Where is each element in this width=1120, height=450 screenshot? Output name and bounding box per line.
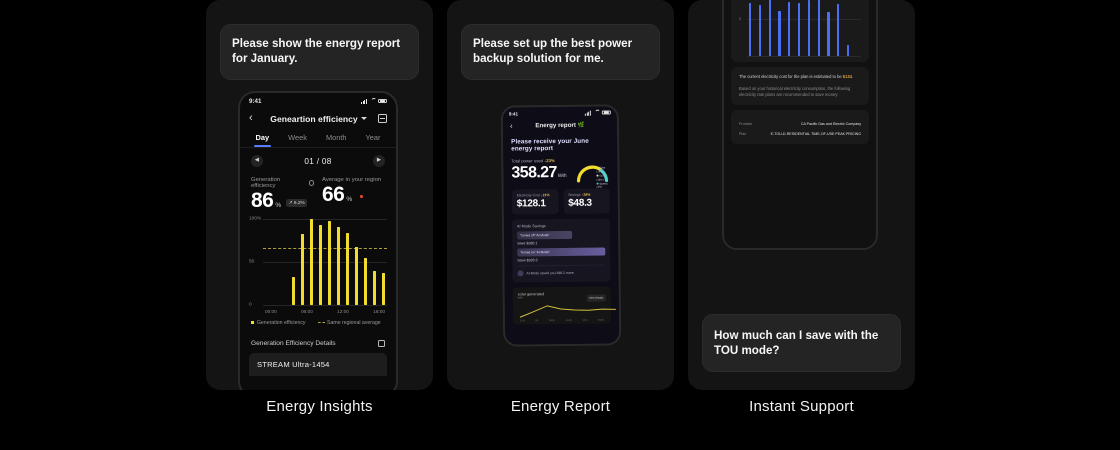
total-power-row: 358.27kWh Solar (78%) Grid (18%) Battery… — [511, 163, 609, 183]
rate-plan-card: Rate plans are recommended based on your… — [731, 0, 869, 62]
robot-icon — [517, 270, 523, 276]
chart-bar — [355, 247, 358, 305]
metric-label: Generation efficiency — [251, 177, 314, 189]
ai-note: AI Mode saved you $48.2 more. — [517, 265, 605, 277]
info-icon[interactable] — [309, 180, 314, 186]
chart-bar — [769, 0, 771, 56]
tab-week[interactable]: Week — [286, 129, 309, 147]
calendar-icon[interactable] — [378, 114, 387, 123]
wifi-icon — [593, 110, 599, 115]
chart-bar — [847, 45, 849, 56]
chart-bars — [749, 0, 859, 56]
metric-value: 66 — [322, 184, 344, 205]
total-power-value-wrap: 358.27kWh — [511, 164, 566, 182]
status-bar: 9:41 — [240, 93, 396, 109]
card-savings: Savings ↑28% $48.3 — [563, 188, 610, 213]
y-tick-0: 0 — [249, 302, 252, 307]
chat-bubble-january: Please show the energy report for Januar… — [220, 24, 419, 80]
x-axis-ticks: 00:00 06:00 12:00 18:00 — [265, 309, 385, 314]
ai-save-on: Save $328.3 — [517, 258, 605, 263]
solar-line-chart — [518, 300, 618, 319]
chart-bar — [749, 3, 751, 56]
chevron-left-icon[interactable]: ‹ — [510, 121, 518, 130]
generation-efficiency-chart: 100% 50 0 00:00 06:00 12:00 18:00 — [249, 219, 387, 305]
panel-energy-report: Please set up the best power backup solu… — [447, 0, 674, 390]
device-card[interactable]: STREAM Ultra-1454 — [249, 353, 387, 376]
card-value: $128.1 — [517, 198, 554, 209]
chevron-down-icon[interactable] — [361, 117, 367, 120]
ai-save-off: Save $280.1 — [517, 241, 605, 246]
screenshot-stage: Please show the energy report for Januar… — [0, 0, 1120, 450]
leaf-icon: 🌿 — [578, 123, 585, 129]
page-title: Energy report 🌿 — [518, 122, 602, 130]
nav-bar: ‹ Energy report 🌿 — [503, 118, 617, 133]
metric-unit: % — [275, 202, 281, 211]
chart-bar — [818, 0, 820, 56]
panel-energy-insights: Please show the energy report for Januar… — [206, 0, 433, 390]
card-delta: ↑28% — [582, 193, 591, 197]
red-dot-icon — [360, 195, 363, 198]
panel-instant-support: Rate plans are recommended based on your… — [688, 0, 915, 390]
view-details-button[interactable]: View Details — [586, 295, 605, 302]
caption-energy-insights: Energy Insights — [206, 398, 433, 415]
selected-date: 01 / 08 — [304, 157, 331, 166]
chart-bar — [759, 5, 761, 57]
tab-year[interactable]: Year — [364, 129, 383, 147]
x-tick: 18:00 — [373, 309, 385, 314]
cost-estimate-text: The current electricity cost for the pla… — [739, 74, 861, 80]
metric-change-badge: ↗ 6.2% — [286, 199, 307, 207]
chart-bar — [310, 219, 313, 305]
card-label: Savings ↑28% — [568, 193, 605, 197]
y-tick-50: 50 — [249, 259, 254, 264]
chart-bar — [808, 0, 810, 56]
card-label: Electricity Cost ↓21% — [517, 193, 554, 197]
legend-item-grid: Grid (18%) — [596, 174, 609, 182]
status-icons — [361, 99, 387, 104]
chart-bar — [373, 271, 376, 305]
legend-item-average: Same regional average — [318, 320, 381, 326]
caption-energy-report: Energy Report — [447, 398, 674, 415]
edit-icon[interactable] — [378, 340, 385, 347]
chart-bar — [337, 227, 340, 305]
legend-dash-icon — [318, 322, 325, 323]
phone-mockup-instant-support: Rate plans are recommended based on your… — [722, 0, 878, 250]
legend-item-generation: Generation efficiency — [251, 320, 306, 326]
energy-source-gauge: Solar (78%) Grid (18%) Battery (4%) — [575, 163, 609, 182]
page-title[interactable]: Geneartion efficiency — [265, 114, 372, 124]
metrics-row: Generation efficiency 86 % ↗ 6.2% Averag… — [240, 171, 396, 211]
card-value: $48.3 — [568, 198, 605, 209]
solar-generated-block: solar generated View Details kWh 1.01 05… — [513, 286, 611, 324]
chart-bar — [382, 273, 385, 305]
chart-bar — [798, 3, 800, 56]
status-time: 9:41 — [509, 111, 518, 116]
tab-month[interactable]: Month — [324, 129, 349, 147]
summary-cards: Electricity Cost ↓21% $128.1 Savings ↑28… — [512, 188, 610, 214]
signal-bars-icon — [361, 99, 367, 104]
metric-generation-efficiency: Generation efficiency 86 % ↗ 6.2% — [251, 177, 314, 211]
period-tabs: Day Week Month Year — [240, 129, 396, 148]
tab-day[interactable]: Day — [254, 129, 272, 147]
chart-bar — [788, 2, 790, 57]
chart-bar — [319, 225, 322, 305]
card-electricity-cost: Electricity Cost ↓21% $128.1 — [512, 189, 559, 214]
chat-bubble-backup: Please set up the best power backup solu… — [461, 24, 660, 80]
gauge-legend: Solar (78%) Grid (18%) Battery (4%) — [596, 166, 609, 189]
ai-mode-savings-block: AI Mode Savings Turned off "AI Mode" Sav… — [512, 218, 611, 282]
status-time: 9:41 — [249, 98, 261, 105]
wifi-icon — [370, 99, 376, 104]
chevron-left-icon[interactable]: ‹ — [249, 113, 259, 124]
plan-details-card[interactable]: Provider CA Pacific Gas and Electric Com… — [731, 110, 869, 144]
chart-legend: Generation efficiency Same regional aver… — [251, 320, 387, 326]
metric-value: 86 — [251, 190, 273, 211]
phone-mockup-energy-insights: 9:41 ‹ Geneartion efficiency — [238, 91, 398, 390]
chart-bar — [364, 258, 367, 305]
plan-row-plan: Plan E-TOU-D-RESIDENTIAL TIME-OF-USE PEA… — [739, 132, 861, 137]
cost-estimate-card: The current electricity cost for the pla… — [731, 67, 869, 104]
solar-x-ticks: 1.01 05 09.01 14.01 1.01 04.01 — [518, 319, 606, 323]
cost-value: $134 — [843, 74, 852, 79]
row-key: Provider — [739, 122, 765, 127]
status-icons — [585, 110, 611, 115]
nav-bar: ‹ Geneartion efficiency — [240, 109, 396, 129]
chart-bar — [328, 221, 331, 305]
legend-swatch-icon — [251, 321, 254, 324]
metric-unit: % — [346, 196, 352, 205]
date-selector: ◀ 01 / 08 ▶ — [240, 148, 396, 171]
total-power-delta: ↓23% — [544, 158, 555, 163]
row-key: Plan — [739, 132, 765, 137]
metric-value-row: 66 % — [322, 184, 385, 205]
metric-value-row: 86 % ↗ 6.2% — [251, 190, 314, 211]
battery-icon — [378, 99, 387, 104]
chart-bar — [778, 11, 780, 56]
x-tick: 00:00 — [265, 309, 277, 314]
row-value: E-TOU-D-RESIDENTIAL TIME-OF-USE PEAK PRI… — [765, 132, 861, 137]
y-tick-100: 100% — [249, 216, 261, 221]
ai-block-title: AI Mode Savings — [517, 224, 605, 229]
y-tick-zero: 0 — [739, 17, 741, 21]
phone-screen-energy-report: 9:41 ‹ Energy report 🌿 Please rece — [503, 106, 619, 344]
total-power-value: 358.27 — [511, 164, 557, 181]
chat-bubble-tou: How much can I save with the TOU mode? — [702, 314, 901, 372]
triangle-left-icon[interactable]: ◀ — [251, 155, 263, 167]
x-tick: 06:00 — [301, 309, 313, 314]
caption-instant-support: Instant Support — [688, 398, 915, 415]
consumption-chart: 16 kWh 0 — [739, 0, 861, 56]
chart-bars — [265, 219, 385, 305]
signal-bars-icon — [585, 110, 591, 115]
row-value: CA Pacific Gas and Electric Company — [765, 122, 861, 127]
ai-bar-on: Turned on "AI Mode" — [517, 248, 605, 257]
card-delta: ↓21% — [541, 193, 550, 197]
total-power-unit: kWh — [558, 173, 566, 179]
phone-screen-energy-insights: 9:41 ‹ Geneartion efficiency — [240, 93, 396, 390]
metric-region-average: Average in your region 66 % — [322, 177, 385, 211]
details-row[interactable]: Generation Efficiency Details — [251, 340, 385, 347]
chart-bar — [346, 233, 349, 305]
ai-bar-off: Turned off "AI Mode" — [517, 231, 572, 240]
chart-bar — [827, 12, 829, 56]
phone-screen-instant-support: Rate plans are recommended based on your… — [724, 0, 876, 248]
details-label: Generation Efficiency Details — [251, 340, 336, 347]
recommendation-text: Based on your historical electricity con… — [739, 86, 861, 99]
legend-item-battery: Battery (4%) — [597, 182, 610, 190]
x-tick: 12:00 — [337, 309, 349, 314]
phone-mockup-energy-report: 9:41 ‹ Energy report 🌿 Please rece — [501, 104, 622, 346]
plan-row-provider: Provider CA Pacific Gas and Electric Com… — [739, 122, 861, 127]
triangle-right-icon[interactable]: ▶ — [373, 155, 385, 167]
chart-bar — [837, 4, 839, 57]
chart-bar — [301, 234, 304, 305]
legend-item-solar: Solar (78%) — [596, 166, 609, 174]
battery-icon — [602, 110, 611, 115]
report-heading: Please receive your June energy report — [511, 137, 609, 152]
chart-bar — [292, 277, 295, 305]
total-power-label: Total power used ↓23% — [511, 157, 609, 163]
